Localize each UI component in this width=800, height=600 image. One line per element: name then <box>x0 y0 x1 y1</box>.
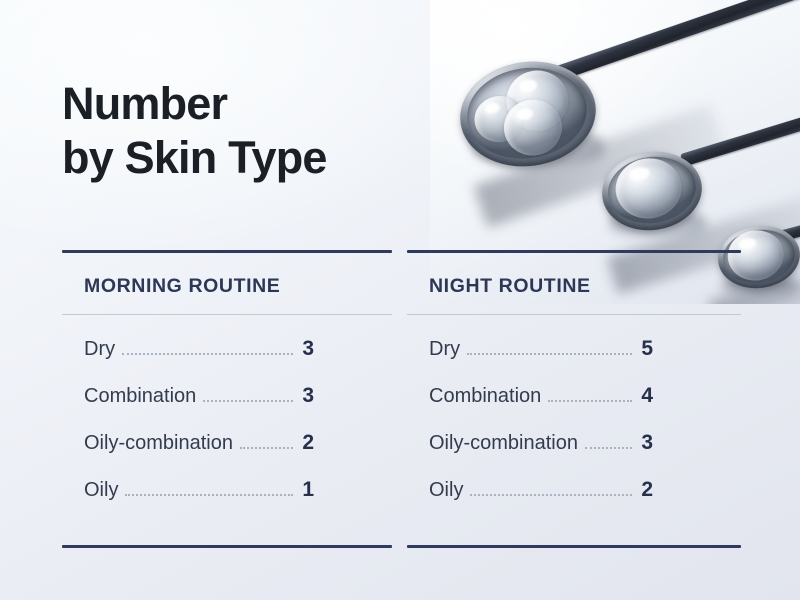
column-bottom-rule <box>62 545 392 548</box>
small-spoon-handle <box>775 193 800 242</box>
row-label: Oily-combination <box>429 432 578 455</box>
row-value: 2 <box>300 431 314 455</box>
table-row: Oily 2 <box>429 478 653 525</box>
large-spoon-bowl-inner <box>461 60 592 166</box>
large-spoon-bowl-shadow <box>474 130 604 166</box>
row-value: 5 <box>639 337 653 361</box>
rows-spacer <box>84 315 314 337</box>
row-value: 4 <box>639 384 653 408</box>
row-label: Dry <box>429 338 460 361</box>
row-value: 1 <box>300 478 314 502</box>
row-value: 3 <box>639 431 653 455</box>
row-label: Oily <box>429 479 463 502</box>
row-label: Oily <box>84 479 118 502</box>
table-row: Oily-combination 2 <box>84 431 314 478</box>
large-spoon-cast-shadow <box>474 105 725 228</box>
leader-dots <box>122 352 293 355</box>
column-night-routine: NIGHT ROUTINE Dry 5 Combination 4 Oily-c… <box>407 250 741 548</box>
gel-drop <box>500 96 565 160</box>
section-heading-night: NIGHT ROUTINE <box>407 253 741 314</box>
leader-dots <box>548 399 632 402</box>
row-label: Combination <box>429 385 541 408</box>
table-row: Oily 1 <box>84 478 314 525</box>
gel-drop <box>502 67 572 135</box>
column-morning-routine: MORNING ROUTINE Dry 3 Combination 3 Oily… <box>62 250 392 548</box>
row-label: Dry <box>84 338 115 361</box>
column-bottom-rule <box>407 545 741 548</box>
rows-night: Dry 5 Combination 4 Oily-combination 3 O… <box>407 315 741 545</box>
large-spoon-bowl <box>453 53 602 175</box>
rows-spacer <box>84 525 314 545</box>
row-value: 3 <box>300 337 314 361</box>
leader-dots <box>470 493 632 496</box>
table-row: Combination 3 <box>84 384 314 431</box>
section-heading-morning: MORNING ROUTINE <box>62 253 392 314</box>
rows-morning: Dry 3 Combination 3 Oily-combination 2 O… <box>62 315 392 545</box>
leader-dots <box>203 399 293 402</box>
poster-canvas: Number by Skin Type MORNING ROUTINE Dry … <box>0 0 800 600</box>
medium-spoon-bowl <box>597 145 707 236</box>
page-title: Number by Skin Type <box>62 77 327 185</box>
row-value: 3 <box>300 384 314 408</box>
table-row: Combination 4 <box>429 384 653 431</box>
medium-spoon-bowl-shadow <box>610 210 706 238</box>
rows-spacer <box>429 525 653 545</box>
gel-drop <box>612 154 686 223</box>
leader-dots <box>585 446 632 449</box>
rows-spacer <box>429 315 653 337</box>
medium-spoon-handle <box>680 96 800 167</box>
gel-drop <box>471 93 527 146</box>
leader-dots <box>125 493 293 496</box>
row-label: Combination <box>84 385 196 408</box>
medium-spoon-bowl-inner <box>604 151 700 229</box>
table-row: Oily-combination 3 <box>429 431 653 478</box>
leader-dots <box>467 352 632 355</box>
table-row: Dry 3 <box>84 337 314 384</box>
row-label: Oily-combination <box>84 432 233 455</box>
leader-dots <box>240 446 293 449</box>
row-value: 2 <box>639 478 653 502</box>
large-spoon-handle <box>556 0 800 81</box>
table-row: Dry 5 <box>429 337 653 384</box>
